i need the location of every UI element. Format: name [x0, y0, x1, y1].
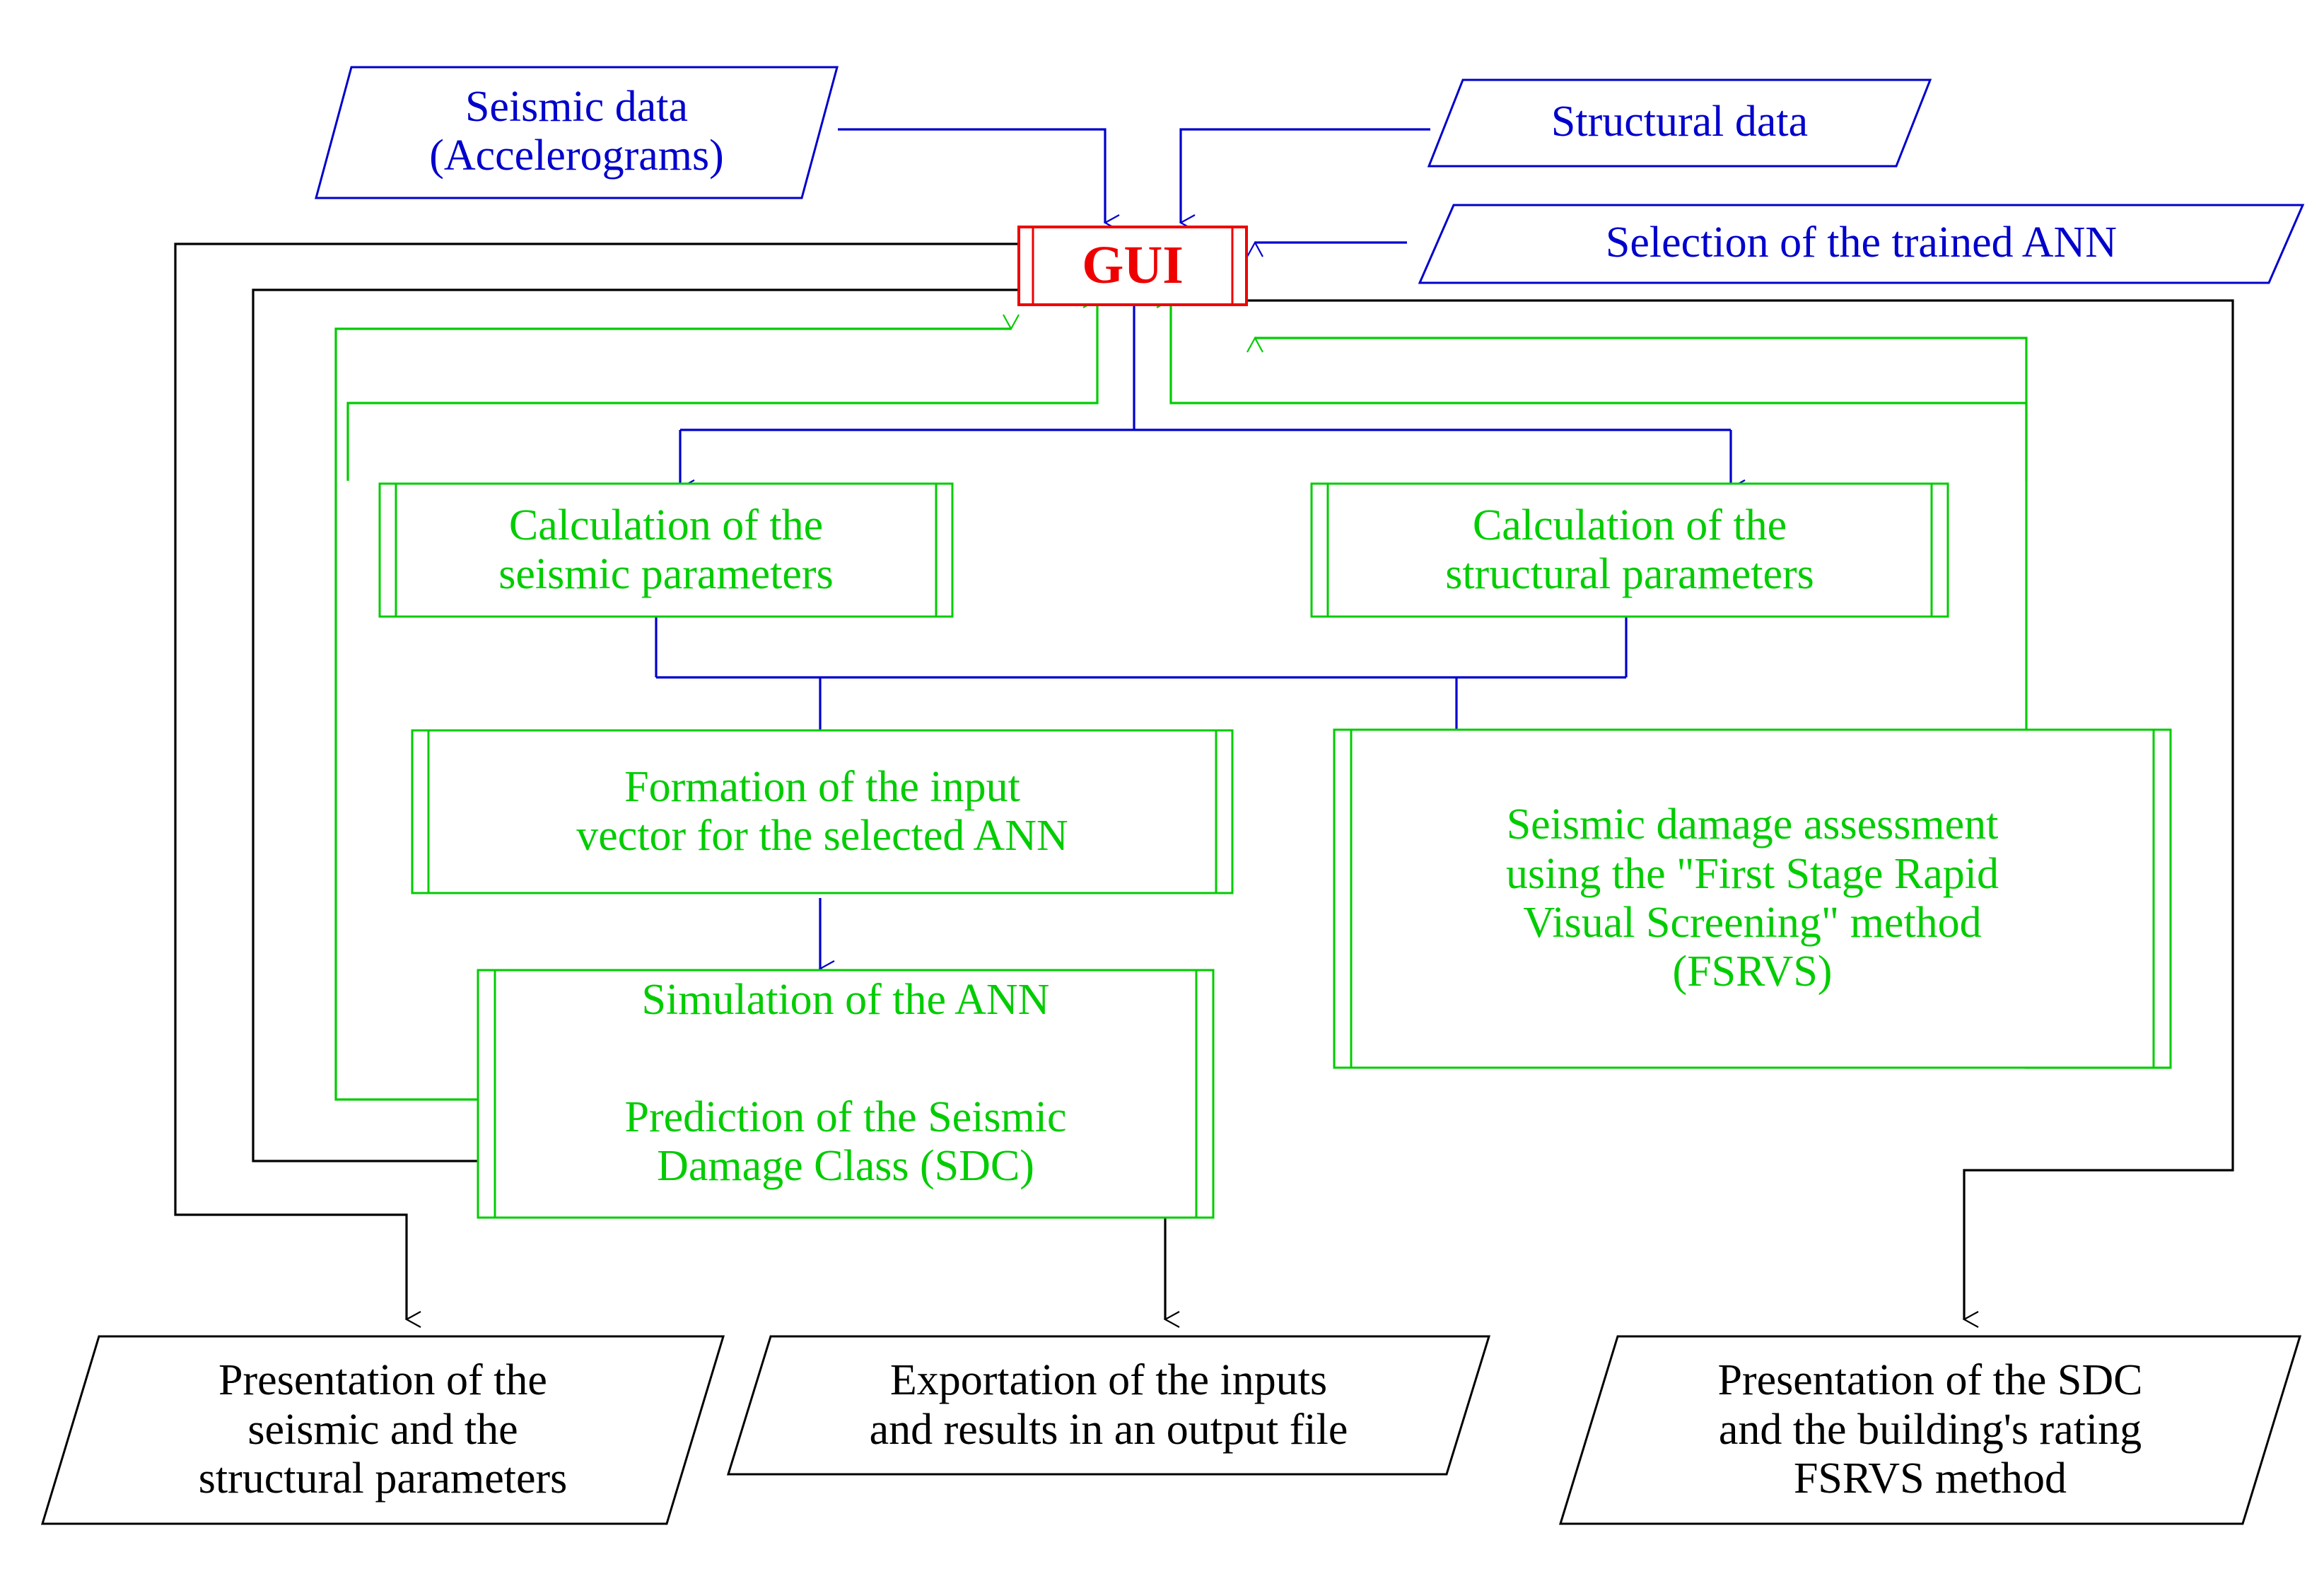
edge-gui-to-calculations — [680, 303, 1731, 488]
edge-calculations-to-next — [656, 617, 1626, 741]
node-calc-structural[interactable] — [1312, 484, 1948, 617]
node-fsrvs[interactable] — [1334, 730, 2171, 1068]
edge-seismic-data-to-gui — [838, 129, 1105, 223]
node-export-results[interactable] — [728, 1336, 1489, 1474]
edge-calc-structural-to-gui — [1171, 300, 2026, 481]
node-calc-seismic[interactable] — [380, 484, 952, 617]
node-structural-data[interactable] — [1429, 80, 1930, 166]
edge-structural-data-to-gui — [1181, 129, 1430, 223]
node-present-params[interactable] — [42, 1336, 723, 1524]
node-selection-ann[interactable] — [1420, 205, 2303, 283]
node-formation-vector[interactable] — [412, 730, 1232, 893]
node-simulation-prediction[interactable] — [478, 970, 1213, 1218]
node-seismic-data[interactable] — [316, 67, 837, 198]
node-present-sdc[interactable] — [1560, 1336, 2300, 1524]
node-gui[interactable] — [1019, 227, 1246, 305]
flowchart-canvas: Seismic data (Accelerograms) Structural … — [0, 0, 2324, 1569]
edge-calc-seismic-to-gui — [348, 300, 1097, 481]
flowchart-svg — [0, 0, 2324, 1569]
